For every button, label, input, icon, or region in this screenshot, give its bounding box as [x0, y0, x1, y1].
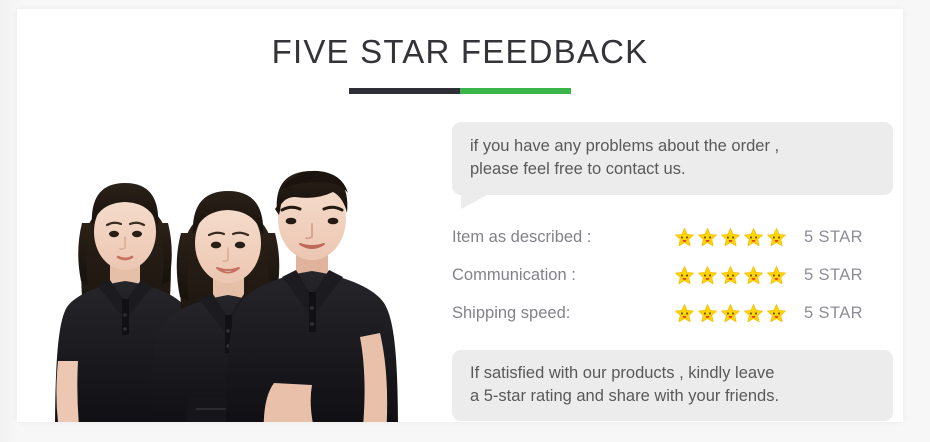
star-icon[interactable] [697, 227, 718, 248]
title-underline [349, 88, 571, 94]
rating-value: 5 STAR [804, 228, 863, 247]
star-icon[interactable] [674, 303, 695, 324]
star-icon[interactable] [743, 227, 764, 248]
rating-stars [674, 265, 804, 286]
satisfaction-note-text: If satisfied with our products , kindly … [470, 362, 877, 408]
star-icon[interactable] [720, 265, 741, 286]
star-icon[interactable] [743, 265, 764, 286]
star-icon[interactable] [674, 227, 695, 248]
star-icon[interactable] [743, 303, 764, 324]
rating-stars [674, 227, 804, 248]
page-title: FIVE STAR FEEDBACK [17, 31, 903, 73]
contact-bubble-text: if you have any problems about the order… [470, 135, 877, 181]
page-backdrop: FIVE STAR FEEDBACK [0, 0, 930, 442]
rating-label: Item as described : [452, 228, 674, 247]
star-icon[interactable] [674, 265, 695, 286]
star-icon[interactable] [720, 227, 741, 248]
feedback-card: FIVE STAR FEEDBACK [17, 9, 903, 422]
header: FIVE STAR FEEDBACK [17, 31, 903, 73]
team-photo [28, 147, 438, 422]
contact-speech-bubble: if you have any problems about the order… [452, 122, 893, 195]
rating-label: Communication : [452, 266, 674, 285]
star-icon[interactable] [766, 265, 787, 286]
rating-stars [674, 303, 804, 324]
feedback-column: if you have any problems about the order… [452, 122, 897, 195]
star-icon[interactable] [697, 303, 718, 324]
star-icon[interactable] [766, 303, 787, 324]
title-underline-green-segment [460, 88, 571, 94]
title-underline-dark-segment [349, 88, 460, 94]
ratings-list: Item as described : [452, 218, 897, 332]
rating-value: 5 STAR [804, 304, 863, 323]
satisfaction-note: If satisfied with our products , kindly … [452, 350, 893, 421]
rating-value: 5 STAR [804, 266, 863, 285]
star-icon[interactable] [720, 303, 741, 324]
rating-label: Shipping speed: [452, 304, 674, 323]
star-icon[interactable] [697, 265, 718, 286]
rating-row-shipping-speed: Shipping speed: [452, 294, 897, 332]
rating-row-item-as-described: Item as described : [452, 218, 897, 256]
star-icon[interactable] [766, 227, 787, 248]
speech-bubble-tail [461, 194, 489, 209]
rating-row-communication: Communication : [452, 256, 897, 294]
